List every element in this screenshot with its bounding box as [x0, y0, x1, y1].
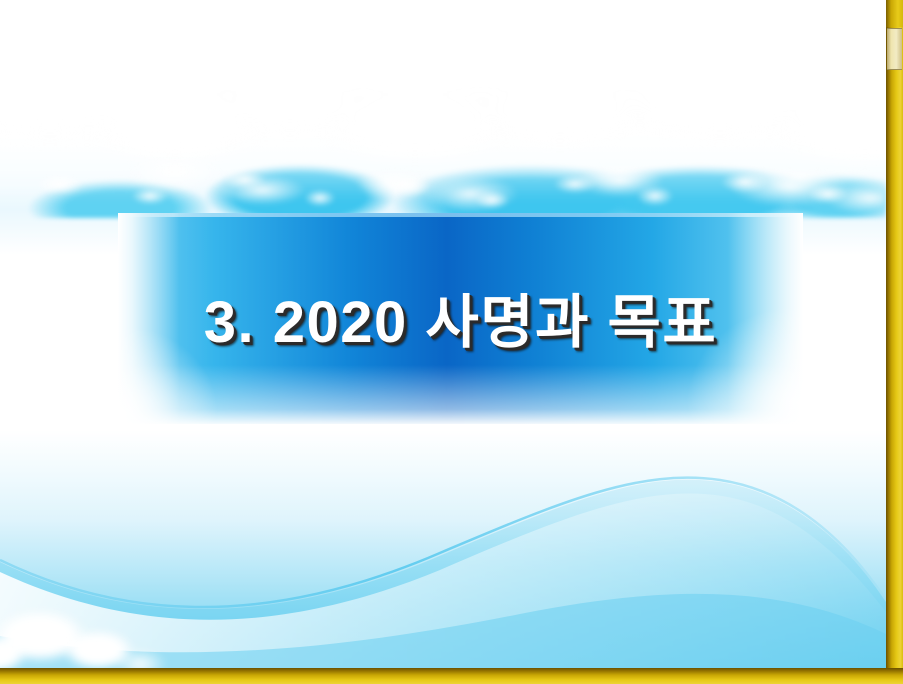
slide-viewer: 3. 2020 사명과 목표 — [0, 0, 903, 684]
scrollbar-thumb[interactable] — [887, 28, 902, 70]
gold-bottom-border — [0, 668, 903, 684]
title-banner: 3. 2020 사명과 목표 — [118, 213, 803, 424]
scrollbar-up-button[interactable] — [886, 0, 903, 27]
slide-title: 3. 2020 사명과 목표 — [118, 213, 803, 424]
presentation-slide: 3. 2020 사명과 목표 — [0, 0, 886, 668]
vertical-scrollbar[interactable] — [886, 0, 903, 684]
cloud-band-fringe — [0, 150, 886, 220]
